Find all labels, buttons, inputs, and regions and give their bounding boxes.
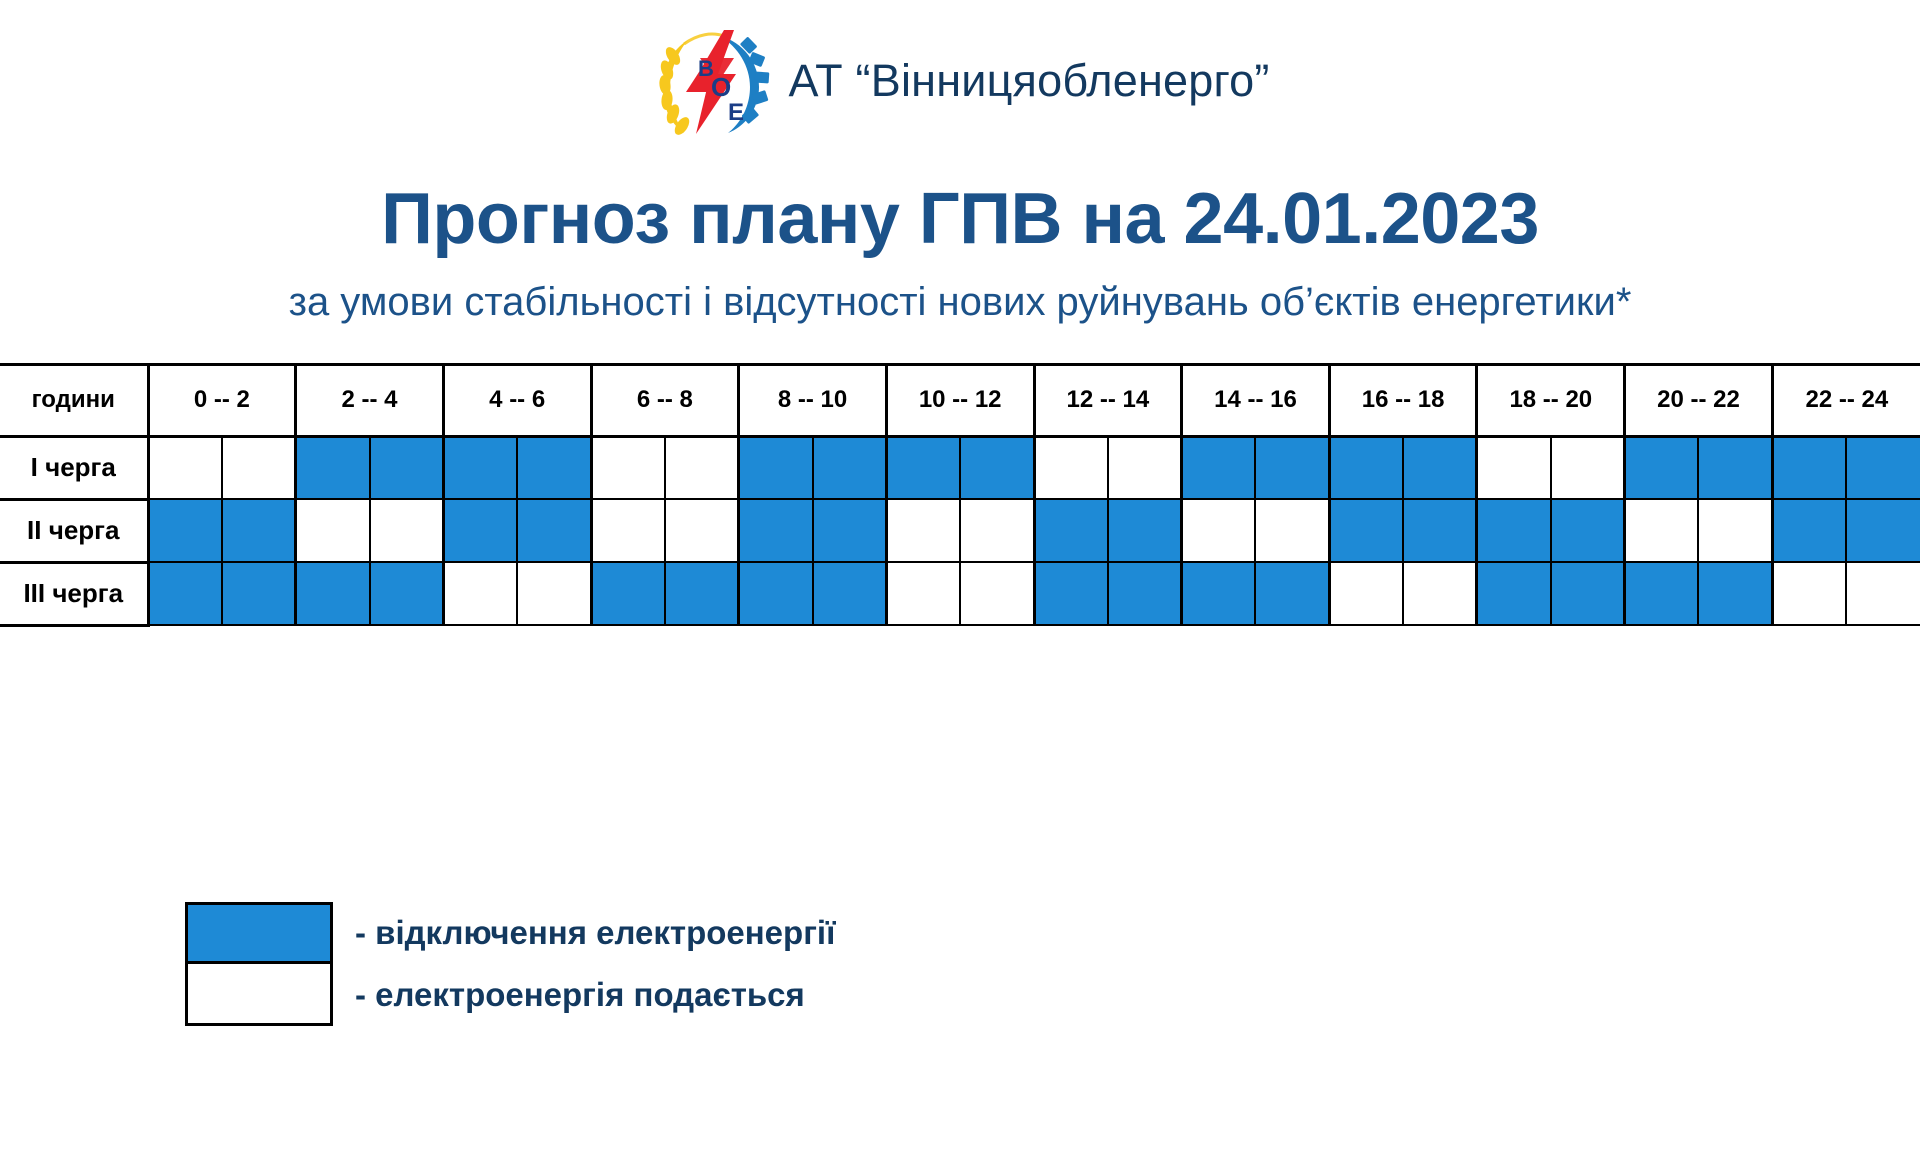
slot-outage	[1625, 436, 1699, 499]
slot-supplied	[886, 499, 960, 562]
slot-outage	[443, 436, 517, 499]
slot-outage	[1698, 436, 1772, 499]
slot-supplied	[1698, 499, 1772, 562]
legend-item-outage: - відключення електроенергії	[185, 902, 835, 964]
voe-logo-icon: B O E	[650, 22, 770, 140]
slot-outage	[148, 499, 222, 562]
slot-outage	[1551, 499, 1625, 562]
header-hour-range: 22 -- 24	[1772, 364, 1920, 436]
page-subtitle: за умови стабільності і відсутності нови…	[0, 280, 1920, 325]
header-hour-range: 10 -- 12	[886, 364, 1034, 436]
table-row: I черга	[0, 436, 1920, 499]
slot-outage	[813, 499, 887, 562]
slot-supplied	[1846, 562, 1920, 625]
legend-item-supplied: - електроенергія подається	[185, 964, 835, 1026]
slot-supplied	[1329, 562, 1403, 625]
slot-outage	[1403, 436, 1477, 499]
slot-supplied	[222, 436, 296, 499]
header-hour-range: 12 -- 14	[1034, 364, 1182, 436]
slot-outage	[1625, 562, 1699, 625]
slot-outage	[813, 436, 887, 499]
header-hour-range: 18 -- 20	[1477, 364, 1625, 436]
slot-outage	[665, 562, 739, 625]
slot-outage	[1846, 499, 1920, 562]
slot-supplied	[517, 562, 591, 625]
slot-supplied	[960, 562, 1034, 625]
slot-outage	[517, 436, 591, 499]
header-hour-range: 14 -- 16	[1182, 364, 1330, 436]
slot-outage	[1698, 562, 1772, 625]
slot-outage	[960, 436, 1034, 499]
page-title: Прогноз плану ГПВ на 24.01.2023	[0, 182, 1920, 258]
legend-swatch-supplied	[185, 964, 333, 1026]
slot-outage	[1772, 436, 1846, 499]
slot-outage	[370, 436, 444, 499]
queue-label: I черга	[0, 436, 148, 499]
slot-outage	[1329, 499, 1403, 562]
slot-supplied	[1625, 499, 1699, 562]
legend-label-outage: - відключення електроенергії	[355, 914, 835, 952]
slot-outage	[1182, 436, 1256, 499]
svg-text:O: O	[711, 72, 731, 102]
slot-outage	[1034, 499, 1108, 562]
slot-outage	[1255, 436, 1329, 499]
slot-outage	[739, 436, 813, 499]
slot-supplied	[960, 499, 1034, 562]
slot-supplied	[1772, 562, 1846, 625]
slot-outage	[1255, 562, 1329, 625]
header-hours-label: години	[0, 364, 148, 436]
slot-supplied	[1034, 436, 1108, 499]
header-hour-range: 6 -- 8	[591, 364, 739, 436]
slot-outage	[222, 499, 296, 562]
slot-supplied	[1477, 436, 1551, 499]
slot-outage	[1551, 562, 1625, 625]
slot-supplied	[591, 499, 665, 562]
slot-outage	[739, 499, 813, 562]
slot-outage	[370, 562, 444, 625]
slot-supplied	[148, 436, 222, 499]
brand-header: B O E АТ “Вінницяобленерго”	[0, 0, 1920, 140]
slot-outage	[813, 562, 887, 625]
slot-outage	[739, 562, 813, 625]
slot-outage	[443, 499, 517, 562]
slot-outage	[296, 436, 370, 499]
svg-text:E: E	[728, 99, 744, 126]
slot-outage	[1108, 562, 1182, 625]
header-hour-range: 16 -- 18	[1329, 364, 1477, 436]
slot-outage	[1477, 562, 1551, 625]
slot-supplied	[443, 562, 517, 625]
slot-supplied	[1551, 436, 1625, 499]
legend: - відключення електроенергії - електроен…	[185, 902, 835, 1026]
slot-supplied	[665, 436, 739, 499]
header-hour-range: 0 -- 2	[148, 364, 296, 436]
slot-supplied	[665, 499, 739, 562]
slot-supplied	[1403, 562, 1477, 625]
slot-outage	[1477, 499, 1551, 562]
company-name: АТ “Вінницяобленерго”	[788, 55, 1269, 107]
poster-root: B O E АТ “Вінницяобленерго” Прогноз план…	[0, 0, 1920, 1164]
header-hour-range: 20 -- 22	[1625, 364, 1773, 436]
slot-supplied	[296, 499, 370, 562]
header-hour-range: 8 -- 10	[739, 364, 887, 436]
slot-outage	[886, 436, 960, 499]
slot-outage	[222, 562, 296, 625]
slot-outage	[148, 562, 222, 625]
queue-label: II черга	[0, 499, 148, 562]
schedule-table-wrapper: години 0 -- 22 -- 44 -- 66 -- 88 -- 1010…	[0, 363, 1920, 627]
slot-outage	[1403, 499, 1477, 562]
legend-label-supplied: - електроенергія подається	[355, 976, 805, 1014]
header-hour-range: 2 -- 4	[296, 364, 444, 436]
slot-outage	[591, 562, 665, 625]
slot-supplied	[886, 562, 960, 625]
header-hour-range: 4 -- 6	[443, 364, 591, 436]
slot-outage	[1329, 436, 1403, 499]
slot-supplied	[1255, 499, 1329, 562]
slot-supplied	[370, 499, 444, 562]
legend-swatch-outage	[185, 902, 333, 964]
slot-outage	[1846, 436, 1920, 499]
slot-outage	[296, 562, 370, 625]
slot-outage	[1034, 562, 1108, 625]
slot-outage	[1182, 562, 1256, 625]
table-header-row: години 0 -- 22 -- 44 -- 66 -- 88 -- 1010…	[0, 364, 1920, 436]
slot-supplied	[591, 436, 665, 499]
slot-supplied	[1182, 499, 1256, 562]
table-row: II черга	[0, 499, 1920, 562]
slot-supplied	[1108, 436, 1182, 499]
slot-outage	[517, 499, 591, 562]
slot-outage	[1108, 499, 1182, 562]
table-row: III черга	[0, 562, 1920, 625]
slot-outage	[1772, 499, 1846, 562]
queue-label: III черга	[0, 562, 148, 625]
outage-schedule-table: години 0 -- 22 -- 44 -- 66 -- 88 -- 1010…	[0, 363, 1920, 627]
